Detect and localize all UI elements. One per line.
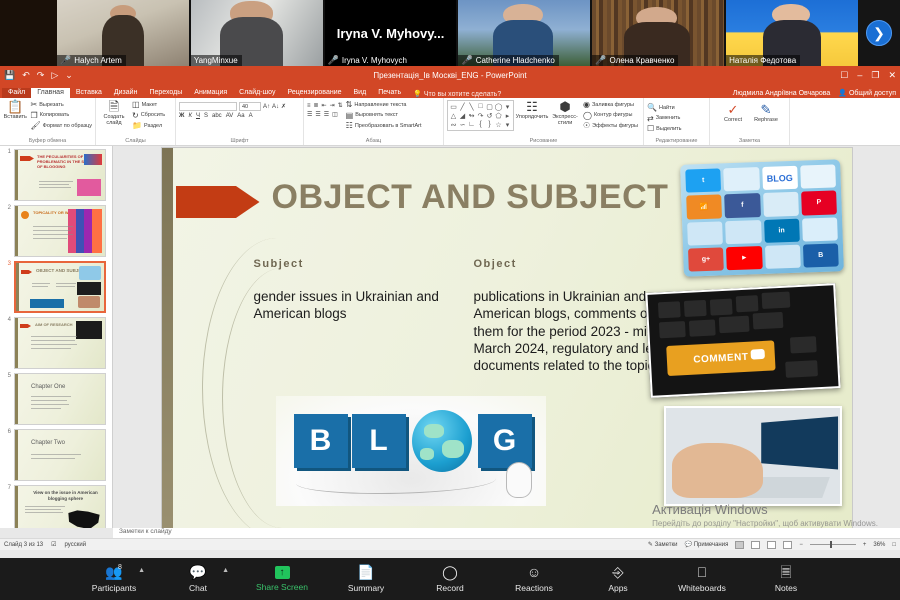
align-left-icon[interactable]: ☰ [307, 111, 312, 118]
zoom-meeting-toolbar: 👥 8 ▲ Participants 💬 ▲ Chat ↑ Share Scre… [0, 558, 900, 600]
whiteboards-label: Whiteboards [678, 583, 726, 593]
tile-name-badge: 🎤 Iryna V. Myhovych [325, 55, 411, 66]
tab-slideshow[interactable]: Слайд-шоу [233, 88, 281, 98]
participant-name: Halych Artem [74, 56, 122, 65]
shape-rounded-icon[interactable]: ▢ [486, 103, 493, 111]
whiteboards-icon: ⎕ [698, 565, 706, 580]
tell-me-search[interactable]: 💡 Что вы хотите сделать? [407, 90, 501, 98]
thumb-accent-bar [16, 263, 19, 311]
normal-view-icon[interactable] [735, 541, 744, 549]
chevron-up-icon[interactable]: ▲ [222, 567, 229, 574]
section-label: Раздел [144, 123, 162, 129]
correct-label: Correct [724, 117, 742, 123]
rephrase-icon: ✎ [761, 103, 772, 116]
customize-qat-icon[interactable]: ⌄ [65, 70, 73, 81]
align-text-icon: ▤ [346, 111, 354, 120]
comment-icon: 💬 [685, 542, 692, 548]
shape-fill-label: Заливка фигуры [592, 102, 634, 108]
notes-toggle-label: Заметки [655, 542, 678, 548]
close-icon[interactable]: ✕ [888, 70, 896, 81]
google-plus-icon: g+ [688, 247, 724, 271]
share-screen-icon: ↑ [275, 566, 290, 579]
search-icon: 🔍 [647, 103, 657, 112]
shape-circle-arrow-icon[interactable]: ↺ [487, 112, 493, 120]
tab-transitions[interactable]: Переходы [143, 88, 188, 98]
shape-fill-icon: ◉ [583, 100, 590, 109]
copy-button[interactable]: ❐ Копировать [31, 111, 92, 120]
slide-thumbnail-7[interactable]: 7 View on the issue in American blogging… [2, 485, 112, 528]
minimize-icon[interactable]: – [857, 70, 862, 80]
mic-muted-icon: 🎤 [328, 56, 339, 65]
tab-file[interactable]: Файл [2, 88, 31, 98]
title-arrow-shape [176, 186, 260, 218]
grow-font-icon[interactable]: A↑ [263, 104, 270, 110]
tile-name-badge: Наталія Федотова [726, 55, 800, 66]
thumb-number: 2 [2, 205, 12, 257]
redo-icon[interactable]: ↷ [37, 70, 45, 81]
align-right-icon[interactable]: ☰ [324, 111, 329, 118]
comments-toggle-label: Примечания [694, 542, 729, 548]
share-screen-button[interactable]: ↑ Share Screen [254, 566, 310, 592]
fit-to-window-icon[interactable]: □ [892, 542, 896, 548]
shape-outline-button[interactable]: ◯ Контур фигуры [583, 111, 638, 120]
thumb-accent-bar [15, 206, 18, 256]
video-participant-strip: 🎤 Halych Artem YangMinxue Iryna V. Myhov… [0, 0, 900, 66]
group-label-slides: Слайды [99, 138, 172, 145]
group-label-clipboard: Буфер обмена [3, 138, 92, 145]
thumb-number: 7 [2, 485, 12, 528]
tile-name-badge: 🎤 Halych Artem [57, 55, 126, 66]
zoom-slider-knob[interactable] [830, 541, 832, 548]
font-color-icon[interactable]: A [249, 113, 253, 119]
share-screen-label: Share Screen [256, 582, 308, 592]
thumb-number: 4 [2, 317, 12, 369]
correct-icon: ✓ [728, 103, 739, 116]
paste-label: Вставить [4, 114, 27, 120]
apps-label: Apps [608, 583, 627, 593]
thumb-preview: Chapter One [14, 373, 106, 425]
share-label: Общий доступ [849, 90, 896, 97]
shape-square-icon[interactable]: □ [478, 103, 482, 110]
font-name-input[interactable] [179, 102, 237, 111]
select-icon: ☐ [647, 124, 654, 133]
person-icon: 👤 [838, 90, 847, 97]
window-controls[interactable]: ☐ – ❐ ✕ [840, 70, 896, 81]
thumb-preview: Chapter Two [14, 429, 106, 481]
subject-heading: Subject [254, 258, 304, 270]
quick-styles-button[interactable]: ⬢ Экспресс-стили [550, 100, 580, 126]
share-button[interactable]: 👤 Общий доступ [838, 89, 896, 97]
editor-body: 1 THE PECULIARITIES OF GENDER PROBLEMATI… [0, 146, 900, 528]
slide-thumbnail-1[interactable]: 1 THE PECULIARITIES OF GENDER PROBLEMATI… [2, 149, 112, 201]
layout-icon: ◫ [132, 100, 140, 109]
comments-toggle-button[interactable]: 💬 Примечания [685, 541, 729, 548]
convert-smartart-button[interactable]: ☷ Преобразовать в SmartArt [346, 121, 422, 130]
group-label-font: Шрифт [179, 138, 300, 145]
numbering-icon[interactable]: ≣ [314, 102, 319, 109]
start-slideshow-icon[interactable]: ▷ [51, 70, 58, 81]
thumb-accent-bar [15, 318, 18, 368]
twitter-icon: t [685, 168, 721, 192]
smartart-label: Преобразовать в SmartArt [355, 123, 422, 129]
slide-thumbnail-3[interactable]: 3 OBJECT AND SUBJECT [2, 261, 112, 313]
linkedin-icon: in [763, 218, 799, 242]
record-icon: ◯ [442, 565, 458, 580]
laptop-photo [664, 406, 842, 506]
participants-label: Participants [92, 583, 136, 593]
ribbon-display-icon[interactable]: ☐ [840, 70, 848, 81]
ribbon-group-drawing: ▭ ╱ ╲ □ ▢ ◯ ▾ △ ◢ ↬ ↷ ↺ ⬠ ▸ ∾ [444, 98, 644, 145]
new-slide-label: Создать слайд [99, 114, 129, 126]
section-icon: 📁 [132, 121, 142, 130]
chevron-up-icon[interactable]: ▲ [138, 567, 145, 574]
find-label: Найти [659, 105, 675, 111]
thumb-accent-bar [15, 150, 18, 200]
status-right: ✎ Заметки 💬 Примечания − + 36% □ [648, 541, 896, 549]
shape-outline-label: Контур фигуры [594, 112, 632, 118]
character-spacing-icon[interactable]: AV [226, 113, 234, 119]
rephrase-button[interactable]: ✎ Rephrase [751, 103, 781, 123]
group-label-drawing: Рисование [447, 138, 640, 145]
paste-button[interactable]: 📋 Вставить [3, 100, 28, 120]
apps-icon: ⎆ [612, 565, 623, 580]
layout-label: Макет [142, 102, 158, 108]
slide-thumbnail-6[interactable]: 6 Chapter Two [2, 429, 112, 481]
tile-name-badge: YangMinxue [191, 55, 242, 66]
slide-thumbnail-2[interactable]: 2 TOPICALITY OR WORK [2, 205, 112, 257]
globe-icon [412, 410, 472, 472]
shape-oval-icon[interactable]: ◯ [495, 103, 503, 111]
shape-star-icon[interactable]: ☆ [495, 121, 501, 129]
reset-button[interactable]: ↻ Сбросить [132, 111, 165, 120]
strikethrough-icon[interactable]: abc [212, 113, 222, 119]
comment-key: COMMENT [666, 340, 775, 376]
computer-mouse-icon [506, 462, 532, 498]
thumb-preview: THE PECULIARITIES OF GENDER PROBLEMATIC … [14, 149, 106, 201]
tab-insert[interactable]: Вставка [70, 88, 108, 98]
block-letter-b: B [294, 414, 348, 468]
shape-freeform-icon[interactable]: ∾ [451, 121, 457, 129]
laptop-screen [761, 416, 837, 469]
tab-animations[interactable]: Анимация [188, 88, 233, 98]
format-painter-button[interactable]: 🖌 Формат по образцу [31, 121, 92, 130]
align-center-icon[interactable]: ☰ [315, 111, 320, 118]
slide-thumbnail-5[interactable]: 5 Chapter One [2, 373, 112, 425]
video-tile-yangminxue[interactable]: YangMinxue [191, 0, 323, 66]
thumb-number: 6 [2, 429, 12, 481]
thumb-arrow-shape [20, 156, 34, 161]
mic-muted-icon: 🎤 [60, 56, 71, 65]
format-painter-label: Формат по образцу [43, 123, 92, 129]
shape-effects-label: Эффекты фигуры [592, 123, 638, 129]
shape-line-icon[interactable]: ╱ [460, 103, 464, 111]
status-bar: Слайд 3 из 13 ☑ русский ✎ Заметки 💬 Прим… [0, 538, 900, 550]
participant-name: Catherine Hladchenko [476, 56, 555, 65]
language-indicator[interactable]: русский [65, 542, 87, 548]
select-label: Выделить [656, 126, 681, 132]
arrange-label: Упорядочить [516, 114, 549, 120]
summary-button[interactable]: 📄 Summary [338, 565, 394, 593]
block-letter-g: G [478, 414, 532, 468]
replace-button[interactable]: ⇄ Заменить [647, 114, 682, 123]
participants-button[interactable]: 👥 8 ▲ Participants [86, 565, 142, 593]
tab-design[interactable]: Дизайн [108, 88, 144, 98]
shape-gallery-more-icon[interactable]: ▾ [506, 121, 510, 129]
social-media-image: t BLOG 📶 f P in g+ ► [680, 159, 844, 277]
participant-name: Iryna V. Myhovych [342, 56, 407, 65]
cut-icon: ✂ [31, 100, 38, 109]
slide-title[interactable]: OBJECT AND SUBJECT [272, 178, 669, 217]
zoom-slider[interactable] [810, 544, 856, 545]
mic-muted-icon: 🎤 [595, 56, 606, 65]
apps-button[interactable]: ⎆ Apps [590, 565, 646, 593]
thumb-preview: AIM OF RESEARCH [14, 317, 106, 369]
shadow-icon[interactable]: S [204, 113, 208, 119]
window-title: Презентація_Ів Москві_ENG - PowerPoint [0, 71, 900, 80]
thumb-title: Chapter Two [31, 440, 102, 448]
shape-triangle-icon[interactable]: △ [451, 112, 456, 120]
shape-effects-icon: ☉ [583, 121, 590, 130]
notes-toggle-button[interactable]: ✎ Заметки [648, 541, 678, 548]
replace-label: Заменить [656, 115, 681, 121]
mic-muted-icon: 🎤 [461, 56, 472, 65]
speech-bubble-icon [750, 349, 765, 360]
thumb-accent-bar [15, 486, 18, 528]
keyboard-comment-image: COMMENT [645, 283, 840, 398]
next-page-button[interactable]: ❯ [858, 0, 900, 66]
quick-styles-label: Экспресс-стили [550, 114, 580, 126]
slide-stage: OBJECT AND SUBJECT t BLOG 📶 f P in [113, 146, 900, 528]
undo-icon[interactable]: ↶ [22, 70, 30, 81]
bold-icon[interactable]: Ж [179, 113, 184, 119]
strip-left-pad [0, 0, 57, 66]
shape-right-triangle-icon[interactable]: ◢ [460, 112, 465, 120]
shape-scribble-icon[interactable]: ∽ [460, 121, 466, 129]
group-label-paragraph: Абзац [307, 138, 440, 145]
summary-icon: 📄 [357, 565, 374, 580]
restore-icon[interactable]: ❐ [871, 70, 879, 81]
reset-label: Сбросить [141, 112, 165, 118]
cut-label: Вырезать [39, 102, 63, 108]
thumb-accent-bar [15, 430, 18, 480]
reading-view-icon[interactable] [767, 541, 776, 549]
slide-counter: Слайд 3 из 13 [4, 542, 43, 548]
text-direction-icon: ⇅ [346, 100, 353, 109]
shapes-gallery[interactable]: ▭ ╱ ╲ □ ▢ ◯ ▾ △ ◢ ↬ ↷ ↺ ⬠ ▸ ∾ [447, 100, 514, 131]
lightbulb-icon: 💡 [413, 90, 422, 98]
copy-icon: ❐ [31, 111, 38, 120]
shape-outline-icon: ◯ [583, 111, 592, 120]
title-bar: 💾 ↶ ↷ ▷ ⌄ Презентація_Ів Москві_ENG - Po… [0, 66, 900, 84]
video-tile-catherine-hladchenko[interactable]: 🎤 Catherine Hladchenko [458, 0, 590, 66]
record-label: Record [436, 583, 463, 593]
clear-formatting-icon[interactable]: ✗ [281, 103, 286, 110]
record-button[interactable]: ◯ Record [422, 565, 478, 593]
slide-thumbnail-panel[interactable]: 1 THE PECULIARITIES OF GENDER PROBLEMATI… [0, 146, 113, 528]
chevron-right-icon: ❯ [866, 20, 892, 46]
chat-button[interactable]: 💬 ▲ Chat [170, 565, 226, 593]
underline-icon[interactable]: Ч [196, 113, 200, 119]
italic-icon[interactable]: К [188, 113, 192, 119]
thumb-accent-bar [15, 374, 18, 424]
tab-print[interactable]: Печать [372, 88, 407, 98]
shape-connector-icon[interactable]: ∟ [468, 121, 475, 128]
reset-icon: ↻ [132, 111, 139, 120]
video-tiles: 🎤 Halych Artem YangMinxue Iryna V. Myhov… [57, 0, 858, 66]
zoom-level[interactable]: 36% [873, 542, 885, 548]
find-button[interactable]: 🔍 Найти [647, 103, 682, 112]
correct-button[interactable]: ✓ Correct [718, 103, 748, 123]
thumb-title: Chapter One [31, 384, 102, 392]
slideshow-icon[interactable] [783, 541, 792, 549]
text-direction-label: Направление текста [354, 102, 406, 108]
change-case-icon[interactable]: Aa [237, 113, 244, 119]
align-text-button[interactable]: ▤ Выровнять текст [346, 111, 422, 120]
tile-name-badge: 🎤 Олена Кравченко [592, 55, 678, 66]
quick-styles-icon: ⬢ [559, 100, 570, 113]
ribbon: 📋 Вставить ✂ Вырезать ❐ Копировать [0, 98, 900, 146]
thumb-number: 5 [2, 373, 12, 425]
video-tile-halych-artem[interactable]: 🎤 Halych Artem [57, 0, 189, 66]
line-spacing-icon[interactable]: ⇅ [338, 102, 343, 109]
notes-button[interactable]: 🗏 Notes [758, 565, 814, 593]
tab-review[interactable]: Рецензирование [281, 88, 347, 98]
smartart-icon: ☷ [346, 121, 353, 130]
shrink-font-icon[interactable]: A↓ [272, 104, 279, 110]
decrease-indent-icon[interactable]: ⇤ [322, 102, 327, 109]
thumb-preview: TOPICALITY OR WORK [14, 205, 106, 257]
chat-icon: 💬 [189, 565, 206, 580]
group-label-note: Заметка [713, 138, 786, 145]
zoom-out-button[interactable]: − [799, 542, 803, 548]
notes-icon: 🗏 [780, 565, 791, 580]
video-tile-olena-kravchenko[interactable]: 🎤 Олена Кравченко [592, 0, 724, 66]
ribbon-group-note: ✓ Correct ✎ Rephrase Заметка [710, 98, 790, 145]
format-painter-icon: 🖌 [31, 121, 41, 130]
ribbon-group-slides: 🗎 Создать слайд ◫ Макет ↻ Сбросить [96, 98, 176, 145]
shape-brace-left-icon[interactable]: { [479, 121, 481, 128]
rss-icon: 📶 [686, 195, 722, 219]
account-name[interactable]: Людмила Андріївна Овчарова [733, 90, 831, 97]
hand [672, 443, 762, 499]
comment-key-label: COMMENT [693, 351, 749, 365]
slide-thumbnail-4[interactable]: 4 AIM OF RESEARCH [2, 317, 112, 369]
reactions-button[interactable]: ☺ Reactions [506, 565, 562, 593]
increase-indent-icon[interactable]: ⇥ [330, 102, 335, 109]
save-icon[interactable]: 💾 [4, 70, 15, 81]
object-text[interactable]: publications in Ukrainian and American b… [474, 288, 674, 374]
tile-name-badge: 🎤 Catherine Hladchenko [458, 55, 558, 66]
ribbon-group-editing: 🔍 Найти ⇄ Заменить ☐ Выделить Редакт [644, 98, 710, 145]
facebook-icon: f [724, 193, 760, 217]
reactions-label: Reactions [515, 583, 553, 593]
notes-label: Notes [775, 583, 797, 593]
shapes-scroll-icon[interactable]: ▾ [506, 103, 510, 111]
tab-home[interactable]: Главная [31, 88, 70, 98]
columns-icon[interactable]: ◫ [332, 111, 338, 118]
tell-me-label: Что вы хотите сделать? [424, 91, 501, 98]
participant-name: Наталія Федотова [729, 56, 796, 65]
group-label-editing: Редактирование [647, 138, 706, 145]
text-direction-button[interactable]: ⇅ Направление текста [346, 100, 422, 109]
cut-button[interactable]: ✂ Вырезать [31, 100, 92, 109]
participants-count: 8 [118, 564, 122, 571]
bullets-icon[interactable]: ≡ [307, 103, 311, 109]
ribbon-group-paragraph: ≡ ≣ ⇤ ⇥ ⇅ ☰ ☰ ☰ ◫ [304, 98, 444, 145]
participant-name: YangMinxue [194, 56, 238, 65]
thumb-number: 3 [2, 261, 12, 313]
new-slide-icon: 🗎 [109, 100, 119, 113]
zoom-in-button[interactable]: + [863, 542, 867, 548]
blog-blocks-image: B L G [276, 396, 546, 506]
powerpoint-window: 💾 ↶ ↷ ▷ ⌄ Презентація_Ів Москві_ENG - Po… [0, 66, 900, 558]
video-tile-natalia-fedotova[interactable]: Наталія Федотова [726, 0, 858, 66]
thumb-preview: View on the issue in American blogging s… [14, 485, 106, 528]
shape-more-icon[interactable]: ▸ [506, 112, 510, 120]
ribbon-right-area: Людмила Андріївна Овчарова 👤 Общий досту… [733, 89, 896, 97]
arrange-icon: ☷ [526, 100, 538, 113]
section-button[interactable]: 📁 Раздел [132, 121, 165, 130]
ribbon-group-font: 40 A↑ A↓ ✗ Ж К Ч S abc AV Aa A [176, 98, 304, 145]
shape-fill-button[interactable]: ◉ Заливка фигуры [583, 100, 638, 109]
copy-label: Копировать [40, 112, 70, 118]
select-button[interactable]: ☐ Выделить [647, 124, 682, 133]
ribbon-tab-bar: Файл Главная Вставка Дизайн Переходы Ани… [0, 84, 900, 98]
slide-accent-bar [162, 148, 173, 536]
shape-curve-icon[interactable]: ↬ [469, 112, 475, 120]
current-slide[interactable]: OBJECT AND SUBJECT t BLOG 📶 f P in [162, 148, 852, 536]
blog-label: BLOG [761, 166, 797, 190]
thumb-title: View on the issue in American blogging s… [29, 490, 102, 501]
block-letter-l: L [352, 414, 406, 468]
summary-label: Summary [348, 583, 384, 593]
shape-arc-icon[interactable]: ↷ [478, 112, 484, 120]
object-heading: Object [474, 258, 517, 270]
pinterest-icon: P [800, 191, 836, 215]
reactions-icon: ☺ [527, 565, 541, 580]
shape-arrow-icon[interactable]: ╲ [469, 103, 473, 111]
whiteboards-button[interactable]: ⎕ Whiteboards [674, 565, 730, 593]
chat-label: Chat [189, 583, 207, 593]
quick-access-toolbar[interactable]: 💾 ↶ ↷ ▷ ⌄ [4, 70, 73, 81]
thumb-number: 1 [2, 149, 12, 201]
layout-button[interactable]: ◫ Макет [132, 100, 165, 109]
align-text-label: Выровнять текст [355, 112, 398, 118]
video-tile-iryna-myhovych[interactable]: Iryna V. Myhovy... 🎤 Iryna V. Myhovych [325, 0, 457, 66]
notes-icon: ✎ [648, 542, 653, 548]
shape-effects-button[interactable]: ☉ Эффекты фигуры [583, 121, 638, 130]
shape-brace-right-icon[interactable]: } [488, 121, 490, 128]
font-size-input[interactable]: 40 [239, 102, 261, 111]
blogger-icon: B [802, 243, 838, 267]
shape-pentagon-icon[interactable]: ⬠ [495, 112, 501, 120]
arrange-button[interactable]: ☷ Упорядочить [517, 100, 547, 120]
tab-view[interactable]: Вид [348, 88, 373, 98]
paste-icon: 📋 [7, 100, 23, 113]
notes-pane[interactable]: Заметки к слайду [113, 528, 900, 538]
subject-text[interactable]: gender issues in Ukrainian and American … [254, 288, 444, 323]
new-slide-button[interactable]: 🗎 Создать слайд [99, 100, 129, 126]
rephrase-label: Rephrase [754, 117, 778, 123]
screen: 🎤 Halych Artem YangMinxue Iryna V. Myhov… [0, 0, 900, 600]
participant-name: Олена Кравченко [610, 56, 675, 65]
spellcheck-icon[interactable]: ☑ [51, 541, 56, 548]
shape-rect-icon[interactable]: ▭ [450, 103, 457, 111]
thumb-preview: OBJECT AND SUBJECT [14, 261, 106, 313]
mouse-cord [296, 468, 496, 494]
slide-sorter-icon[interactable] [751, 541, 760, 549]
replace-icon: ⇄ [647, 114, 654, 123]
